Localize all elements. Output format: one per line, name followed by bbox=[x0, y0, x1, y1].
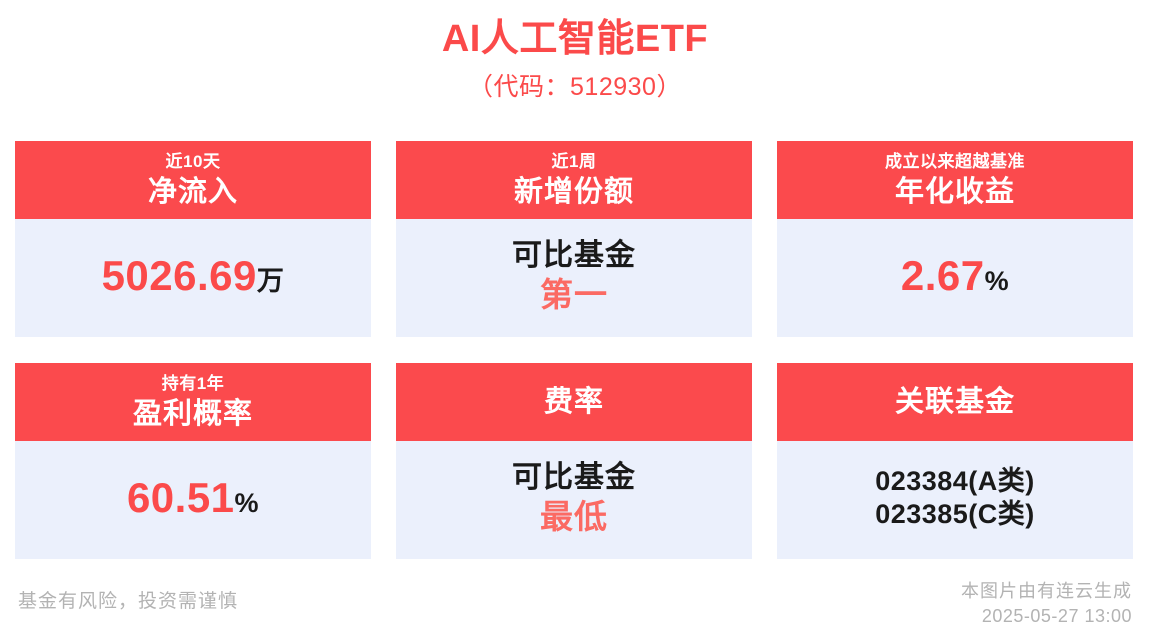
metric-card-profit-probability: 持有1年 盈利概率 60.51 % bbox=[15, 363, 371, 559]
page-title: AI人工智能ETF bbox=[0, 16, 1150, 62]
credit-timestamp: 2025-05-27 13:00 bbox=[961, 604, 1132, 628]
card-header: 持有1年 盈利概率 bbox=[15, 363, 371, 441]
metric-comparison-label: 可比基金 bbox=[512, 237, 636, 275]
metric-card-grid: 近10天 净流入 5026.69 万 近1周 新增份额 可比基金 第一 bbox=[15, 141, 1135, 559]
metric-card-net-inflow: 近10天 净流入 5026.69 万 bbox=[15, 141, 371, 337]
metric-value: 2.67 bbox=[901, 251, 985, 301]
etf-info-card-page: AI人工智能ETF （代码：512930） 近10天 净流入 5026.69 万… bbox=[0, 0, 1150, 632]
page-header: AI人工智能ETF （代码：512930） bbox=[0, 0, 1150, 104]
page-footer: 基金有风险，投资需谨慎 本图片由有连云生成 2025-05-27 13:00 bbox=[0, 575, 1150, 632]
fund-code-subtitle: （代码：512930） bbox=[0, 70, 1150, 104]
card-body: 60.51 % bbox=[15, 441, 371, 559]
card-header: 近1周 新增份额 bbox=[396, 141, 752, 219]
card-header-sublabel: 近1周 bbox=[552, 151, 597, 172]
metric-unit: % bbox=[985, 268, 1010, 295]
metric-value-line: 2.67 % bbox=[901, 251, 1009, 301]
card-header-title: 盈利概率 bbox=[133, 397, 253, 431]
metric-value-line: 60.51 % bbox=[127, 473, 259, 523]
card-header-title: 净流入 bbox=[148, 175, 238, 209]
card-header: 近10天 净流入 bbox=[15, 141, 371, 219]
risk-disclaimer: 基金有风险，投资需谨慎 bbox=[18, 575, 238, 616]
card-header-sublabel: 成立以来超越基准 bbox=[885, 151, 1025, 172]
related-fund-code-c: 023385(C类) bbox=[875, 498, 1035, 531]
card-body: 可比基金 最低 bbox=[396, 441, 752, 559]
card-body: 5026.69 万 bbox=[15, 219, 371, 337]
metric-unit: % bbox=[235, 490, 260, 517]
metric-comparison-label: 可比基金 bbox=[512, 459, 636, 497]
metric-card-new-shares: 近1周 新增份额 可比基金 第一 bbox=[396, 141, 752, 337]
metric-value: 60.51 bbox=[127, 473, 235, 523]
card-header-title: 新增份额 bbox=[514, 175, 634, 209]
card-body: 023384(A类) 023385(C类) bbox=[777, 441, 1133, 559]
metric-card-related-funds: 关联基金 023384(A类) 023385(C类) bbox=[777, 363, 1133, 559]
metric-rank-value: 最低 bbox=[540, 497, 608, 537]
credit-source: 本图片由有连云生成 bbox=[961, 579, 1132, 604]
card-header-title: 年化收益 bbox=[895, 175, 1015, 209]
metric-value: 5026.69 bbox=[102, 251, 257, 301]
card-header-title: 关联基金 bbox=[895, 385, 1015, 419]
generation-credit: 本图片由有连云生成 2025-05-27 13:00 bbox=[961, 575, 1132, 628]
card-header-sublabel: 近10天 bbox=[166, 151, 221, 172]
related-fund-code-a: 023384(A类) bbox=[875, 465, 1035, 498]
card-header-title: 费率 bbox=[544, 385, 604, 419]
metric-value-line: 5026.69 万 bbox=[102, 251, 285, 301]
card-header: 费率 bbox=[396, 363, 752, 441]
card-body: 可比基金 第一 bbox=[396, 219, 752, 337]
card-header: 关联基金 bbox=[777, 363, 1133, 441]
card-header: 成立以来超越基准 年化收益 bbox=[777, 141, 1133, 219]
metric-unit: 万 bbox=[257, 268, 285, 295]
metric-card-fee-rate: 费率 可比基金 最低 bbox=[396, 363, 752, 559]
card-header-sublabel: 持有1年 bbox=[162, 373, 224, 394]
metric-card-annualized-excess-return: 成立以来超越基准 年化收益 2.67 % bbox=[777, 141, 1133, 337]
metric-rank-value: 第一 bbox=[540, 275, 608, 315]
card-body: 2.67 % bbox=[777, 219, 1133, 337]
